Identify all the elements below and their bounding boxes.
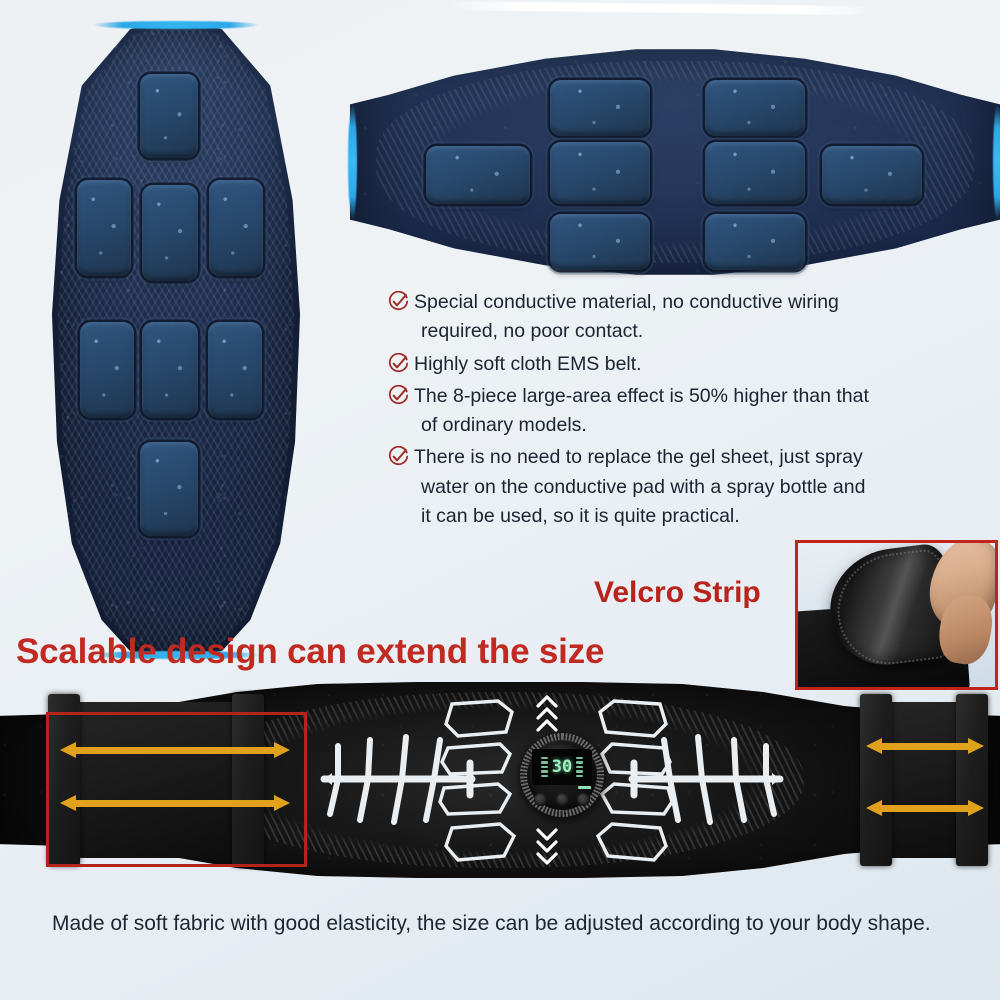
scalable-highlight-box xyxy=(46,712,307,867)
check-circle-icon xyxy=(388,385,409,406)
feature-line: Special conductive material, no conducti… xyxy=(414,291,839,313)
chevron-up-icons xyxy=(532,692,562,734)
scalable-design-headline: Scalable design can extend the size xyxy=(16,632,604,672)
feature-item: There is no need to replace the gel shee… xyxy=(388,443,996,531)
belt-horizontal-trim-left xyxy=(348,104,357,219)
dial-button-minus[interactable] xyxy=(534,793,547,806)
conductive-pad xyxy=(550,214,650,270)
conductive-pad xyxy=(209,180,263,276)
check-circle-icon xyxy=(388,353,409,374)
abs-pad-group-left xyxy=(438,698,520,866)
velcro-inset-photo xyxy=(795,540,998,690)
conductive-pad xyxy=(705,142,805,204)
level-bars-left xyxy=(541,757,548,778)
feature-line: Highly soft cloth EMS belt. xyxy=(414,353,642,375)
velcro-strip-label: Velcro Strip xyxy=(594,576,761,610)
velcro-strap-right-inner xyxy=(860,694,892,866)
ems-control-dial[interactable]: 30 xyxy=(520,733,604,817)
feature-line: water on the conductive pad with a spray… xyxy=(414,476,865,498)
conductive-pad xyxy=(80,322,134,418)
feature-line: required, no poor contact. xyxy=(414,320,643,342)
feature-item: The 8-piece large-area effect is 50% hig… xyxy=(388,382,996,441)
product-image-belt-vertical xyxy=(52,22,300,658)
conductive-pad xyxy=(140,442,198,536)
conductive-pad xyxy=(142,185,198,281)
feature-item: Special conductive material, no conducti… xyxy=(388,288,996,347)
feature-text: Special conductive material, no conducti… xyxy=(414,288,839,347)
infographic-canvas: Special conductive material, no conducti… xyxy=(0,0,1000,1000)
display-indicator-bar xyxy=(578,786,591,789)
chevron-down-icons xyxy=(532,826,562,868)
conductive-pad xyxy=(208,322,262,418)
abs-pad-group-right xyxy=(592,698,674,866)
conductive-pad xyxy=(550,142,650,204)
velcro-strap-right-outer xyxy=(956,694,988,866)
feature-text: Highly soft cloth EMS belt. xyxy=(414,350,642,379)
dial-display-screen: 30 xyxy=(532,749,592,785)
feature-text: The 8-piece large-area effect is 50% hig… xyxy=(414,382,869,441)
check-circle-icon xyxy=(388,291,409,312)
conductive-pad xyxy=(77,180,131,276)
conductive-pad xyxy=(550,80,650,136)
feature-line: it can be used, so it is quite practical… xyxy=(414,505,740,527)
dial-buttons[interactable] xyxy=(534,792,590,807)
extend-arrow-left-top xyxy=(60,742,290,758)
display-value: 30 xyxy=(552,759,572,776)
conductive-pad xyxy=(822,146,922,204)
belt-vertical-trim-top xyxy=(92,21,261,29)
product-image-belt-horizontal xyxy=(350,42,1000,282)
extend-arrow-right-bottom xyxy=(866,800,984,816)
conductive-pad xyxy=(705,214,805,270)
dial-button-plus[interactable] xyxy=(577,793,590,806)
feature-list: Special conductive material, no conducti… xyxy=(388,288,996,534)
conductive-pad xyxy=(426,146,530,204)
dial-button-power[interactable] xyxy=(556,793,569,806)
feature-line: The 8-piece large-area effect is 50% hig… xyxy=(414,385,869,407)
conductive-pad xyxy=(142,322,198,418)
top-highlight-sliver xyxy=(445,1,865,15)
feature-text: There is no need to replace the gel shee… xyxy=(414,443,865,531)
belt-horizontal-trim-right xyxy=(993,104,1000,219)
bottom-caption: Made of soft fabric with good elasticity… xyxy=(52,908,972,941)
feature-line: of ordinary models. xyxy=(414,414,587,436)
level-bars-right xyxy=(576,757,583,778)
check-circle-icon xyxy=(388,446,409,467)
extend-arrow-left-bottom xyxy=(60,795,290,811)
feature-line: There is no need to replace the gel shee… xyxy=(414,446,863,468)
conductive-pad xyxy=(140,74,198,158)
extend-arrow-right-top xyxy=(866,738,984,754)
feature-item: Highly soft cloth EMS belt. xyxy=(388,350,996,379)
conductive-pad xyxy=(705,80,805,136)
